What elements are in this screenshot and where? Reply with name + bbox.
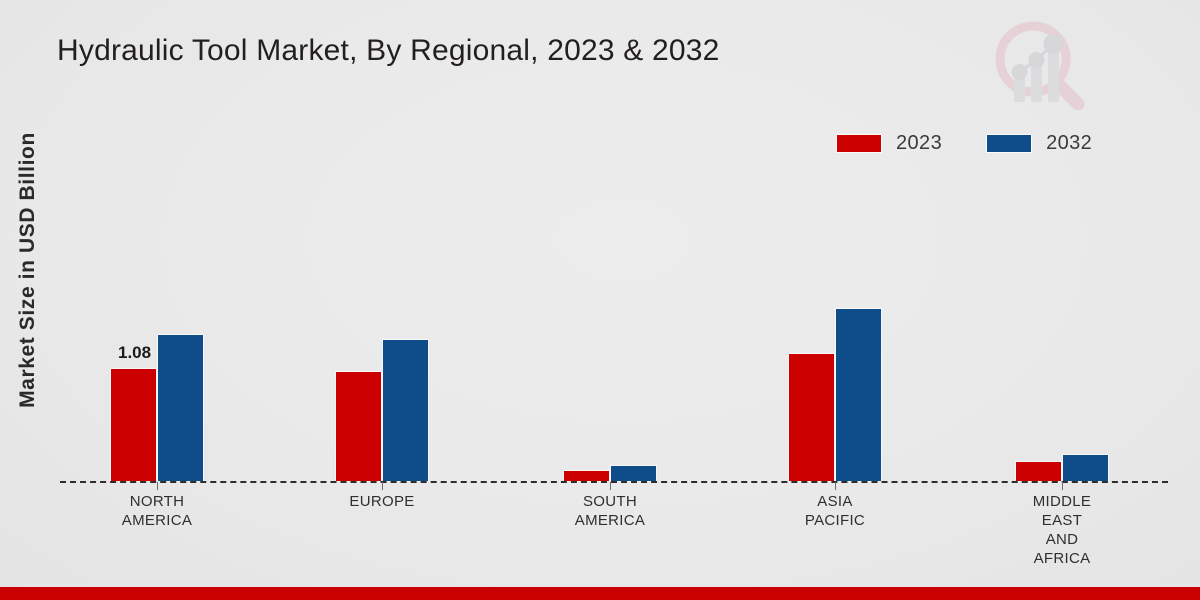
bar-pair bbox=[788, 120, 882, 481]
bar-pair bbox=[1015, 120, 1109, 481]
bar-pair bbox=[110, 120, 204, 481]
category-label-line: SOUTH bbox=[520, 492, 700, 511]
footer-accent-bar bbox=[0, 587, 1200, 600]
x-axis-baseline bbox=[60, 481, 1168, 483]
category-label-line: AMERICA bbox=[520, 511, 700, 530]
bar-2023-south-america[interactable] bbox=[563, 470, 610, 482]
category-label-line: NORTH bbox=[67, 492, 247, 511]
category-label-line: AFRICA bbox=[972, 549, 1152, 568]
category-label-line: AMERICA bbox=[67, 511, 247, 530]
chart-container: Hydraulic Tool Market, By Regional, 2023… bbox=[0, 0, 1200, 600]
category-label: MIDDLEEASTANDAFRICA bbox=[972, 492, 1152, 568]
bar-2032-south-america[interactable] bbox=[610, 465, 657, 481]
bar-value-label: 1.08 bbox=[118, 343, 151, 363]
bar-pair bbox=[563, 120, 657, 481]
category-label-line: ASIA bbox=[745, 492, 925, 511]
category-label-line: AND bbox=[972, 530, 1152, 549]
axis-tick bbox=[835, 482, 836, 490]
bar-2032-north-america[interactable] bbox=[157, 334, 204, 481]
bar-2023-asia-pacific[interactable] bbox=[788, 353, 835, 481]
axis-tick bbox=[610, 482, 611, 490]
axis-tick bbox=[382, 482, 383, 490]
bar-2023-middle-east-and-africa[interactable] bbox=[1015, 461, 1062, 481]
category-label: EUROPE bbox=[292, 492, 472, 511]
bar-2032-middle-east-and-africa[interactable] bbox=[1062, 454, 1109, 481]
category-label: NORTHAMERICA bbox=[67, 492, 247, 530]
category-label-line: EAST bbox=[972, 511, 1152, 530]
category-label-line: MIDDLE bbox=[972, 492, 1152, 511]
bar-2023-europe[interactable] bbox=[335, 371, 382, 481]
bar-2032-europe[interactable] bbox=[382, 339, 429, 481]
axis-tick bbox=[157, 482, 158, 490]
bar-2023-north-america[interactable] bbox=[110, 368, 157, 481]
plot-area: 1.08NORTHAMERICAEUROPESOUTHAMERICAASIAPA… bbox=[0, 0, 1200, 600]
bar-2032-asia-pacific[interactable] bbox=[835, 308, 882, 481]
category-label-line: EUROPE bbox=[292, 492, 472, 511]
axis-tick bbox=[1062, 482, 1063, 490]
bar-groups bbox=[60, 120, 1170, 481]
category-label: SOUTHAMERICA bbox=[520, 492, 700, 530]
bar-pair bbox=[335, 120, 429, 481]
category-label-line: PACIFIC bbox=[745, 511, 925, 530]
category-label: ASIAPACIFIC bbox=[745, 492, 925, 530]
